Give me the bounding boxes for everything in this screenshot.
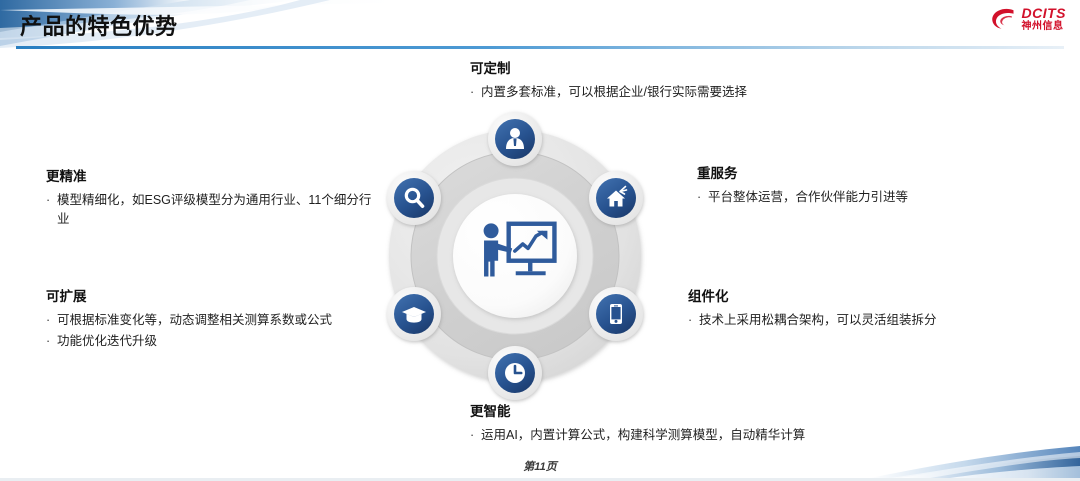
feature-bullet: · 运用AI，内置计算公式，构建科学测算模型，自动精华计算 [470,426,940,445]
bullet-marker: · [46,332,57,351]
bullet-marker: · [46,311,57,330]
bullet-marker: · [697,188,708,207]
bullet-marker: · [688,311,699,330]
slide-header: 产品的特色优势 DCITS 神州信息 [0,0,1080,52]
central-hub-graphic [372,106,658,406]
logo-english-text: DCITS [1022,6,1067,20]
feature-bullet: · 可根据标准变化等，动态调整相关测算系数或公式 [46,311,378,330]
hub-badge-education[interactable] [387,287,441,341]
feature-bullet: · 模型精细化，如ESG评级模型分为通用行业、11个细分行业 [46,191,378,230]
hub-badge-home[interactable] [589,171,643,225]
feature-bullet-text: 功能优化迭代升级 [57,332,378,351]
feature-bullet-text: 平台整体运营，合作伙伴能力引进等 [708,188,1037,207]
feature-bullet-text: 模型精细化，如ESG评级模型分为通用行业、11个细分行业 [57,191,378,230]
feature-block-extensible: 可扩展 · 可根据标准变化等，动态调整相关测算系数或公式 · 功能优化迭代升级 [46,288,378,353]
feature-bullet: · 功能优化迭代升级 [46,332,378,351]
feature-block-intelligent: 更智能 · 运用AI，内置计算公式，构建科学测算模型，自动精华计算 [470,403,940,447]
slide-root: 产品的特色优势 DCITS 神州信息 可定制 · 内置多套标准，可以根据企业/银… [0,0,1080,481]
feature-bullet: · 内置多套标准，可以根据企业/银行实际需要选择 [470,83,890,102]
feature-block-accurate: 更精准 · 模型精细化，如ESG评级模型分为通用行业、11个细分行业 [46,168,378,231]
feature-block-component: 组件化 · 技术上采用松耦合架构，可以灵活组装拆分 [688,288,1028,332]
feature-block-service: 重服务 · 平台整体运营，合作伙伴能力引进等 [697,165,1037,209]
feature-bullet: · 技术上采用松耦合架构，可以灵活组装拆分 [688,311,1028,330]
hub-badge-mobile[interactable] [589,287,643,341]
mobile-phone-icon [610,304,622,324]
bullet-marker: · [470,83,481,102]
feature-title-extensible: 可扩展 [46,288,378,306]
hub-badge-clock[interactable] [488,346,542,400]
feature-bullet-text: 运用AI，内置计算公式，构建科学测算模型，自动精华计算 [481,426,940,445]
feature-bullet: · 平台整体运营，合作伙伴能力引进等 [697,188,1037,207]
feature-bullet-text: 技术上采用松耦合架构，可以灵活组装拆分 [699,311,1028,330]
clock-icon [505,363,525,383]
feature-bullet-text: 内置多套标准，可以根据企业/银行实际需要选择 [481,83,890,102]
dcits-swoosh-icon [991,7,1017,31]
feature-block-customizable: 可定制 · 内置多套标准，可以根据企业/银行实际需要选择 [470,60,890,104]
dcits-logo: DCITS 神州信息 [991,6,1067,32]
bullet-marker: · [470,426,481,445]
feature-bullet-text: 可根据标准变化等，动态调整相关测算系数或公式 [57,311,378,330]
header-divider-rule [16,46,1064,49]
hub-center-disc [453,194,577,318]
feature-title-accurate: 更精准 [46,168,378,186]
logo-chinese-text: 神州信息 [1022,22,1067,32]
feature-title-customizable: 可定制 [470,60,890,78]
hub-badge-search[interactable] [387,171,441,225]
bullet-marker: · [46,191,57,230]
feature-title-component: 组件化 [688,288,1028,306]
footer-swoosh-decoration [860,444,1080,478]
page-title: 产品的特色优势 [20,9,178,41]
hub-badge-user[interactable] [488,112,542,166]
feature-title-service: 重服务 [697,165,1037,183]
